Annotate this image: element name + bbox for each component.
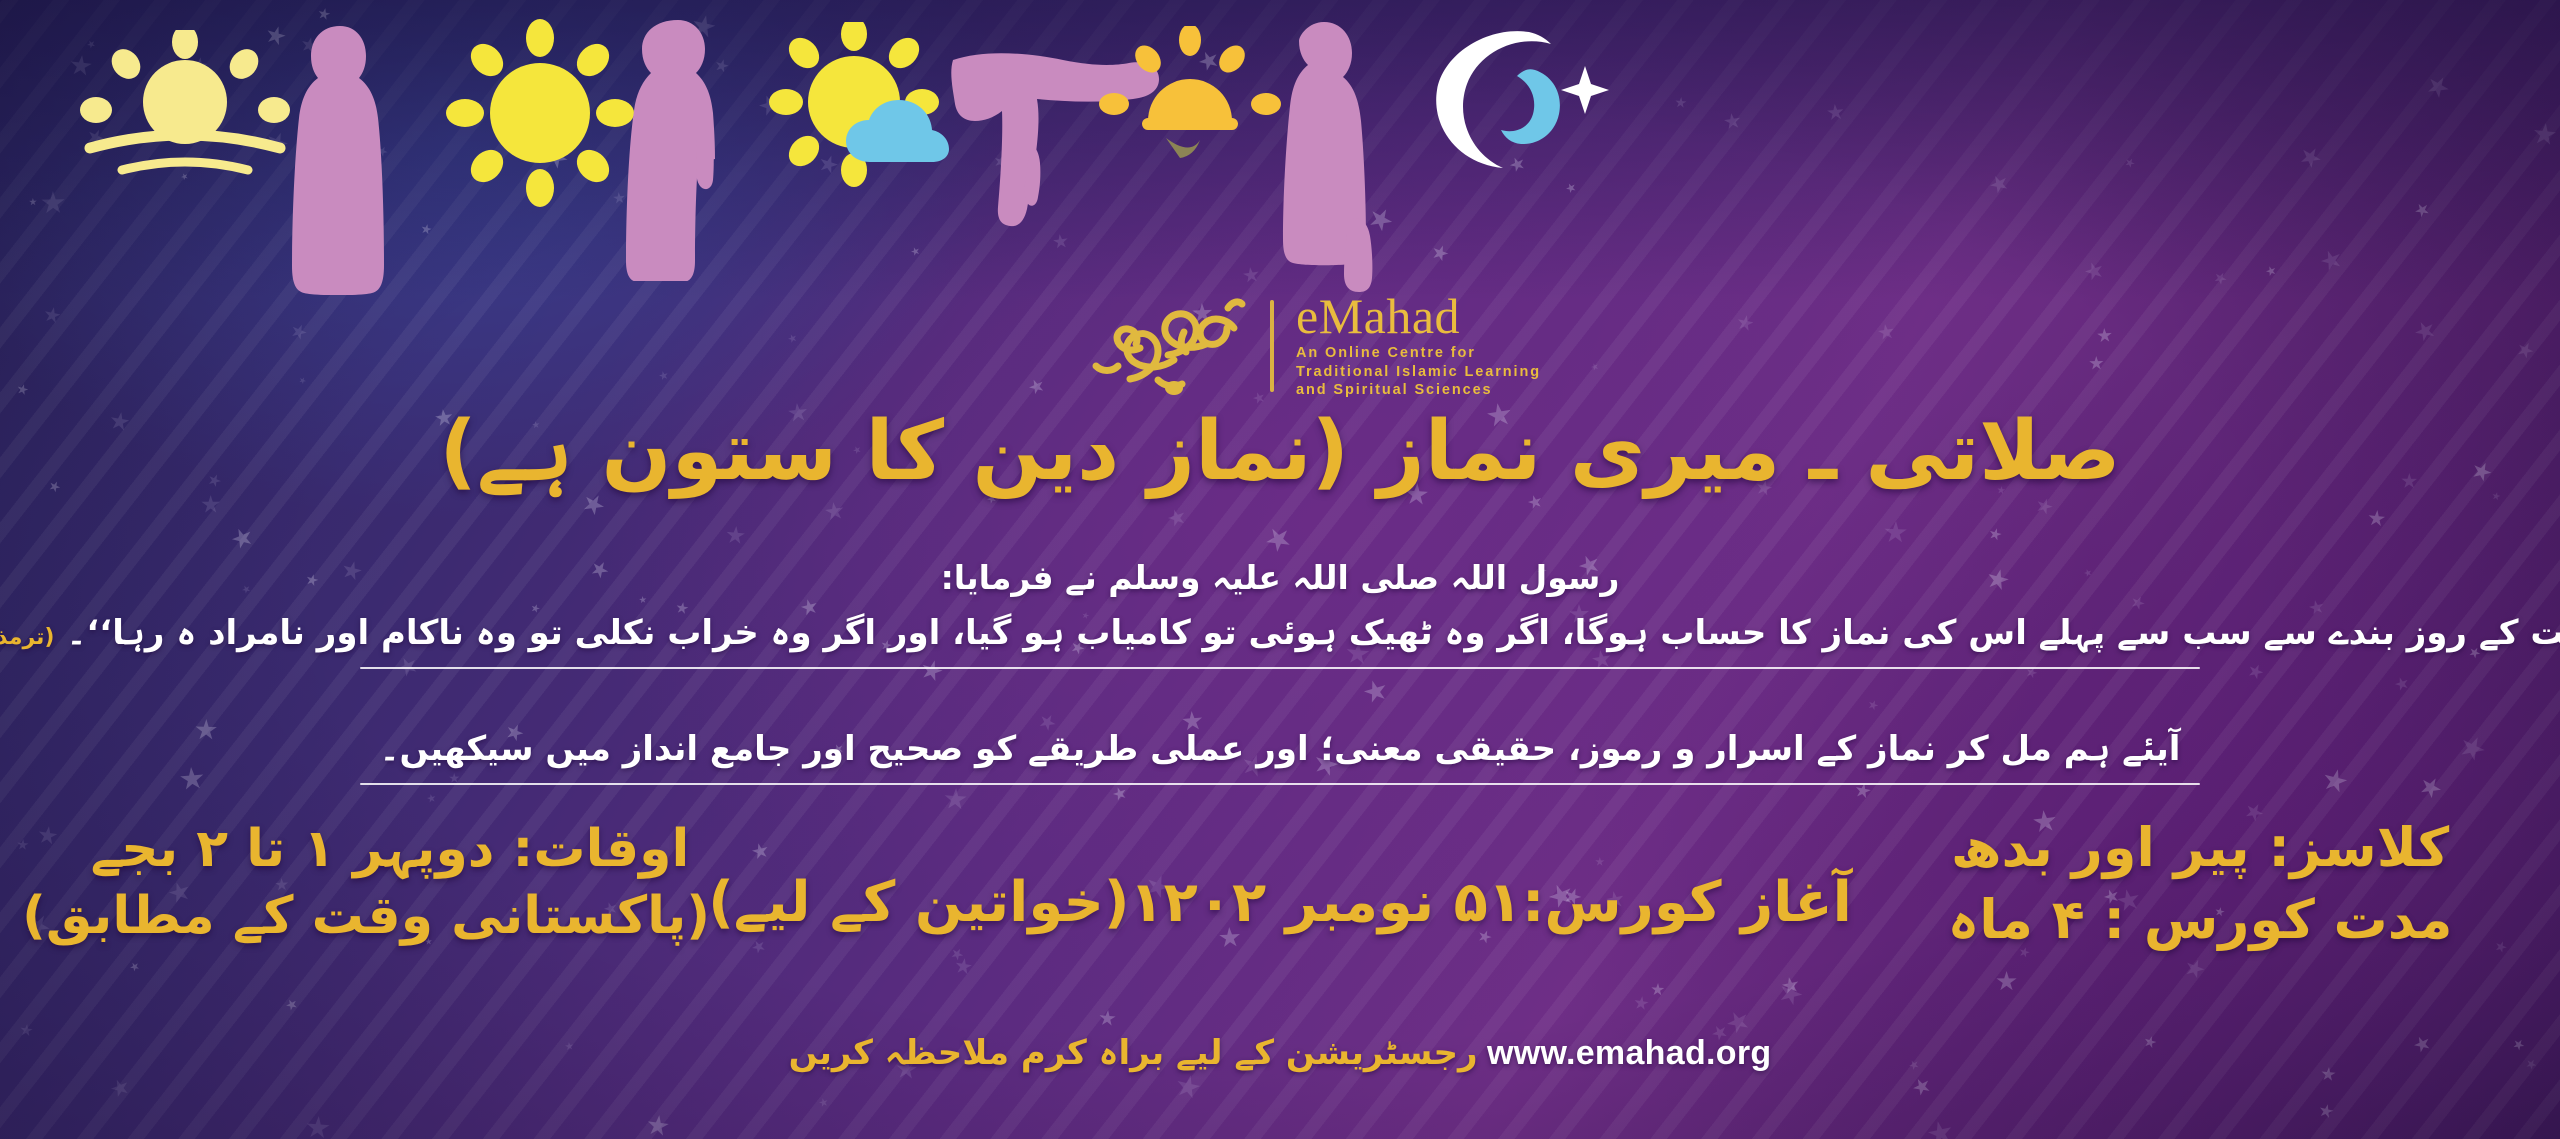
raised-hands-prayer-silhouette (622, 16, 732, 281)
qiyam-standing-silhouette (1270, 18, 1380, 298)
standing-prayer-silhouette (288, 20, 398, 295)
hadith-text: ’’قیامت کے روز بندے سے سب سے پہلے اس کی … (66, 612, 2560, 653)
page-title: صلاتی ـ میری نماز (نماز دین کا ستون ہے) (0, 404, 2560, 499)
intro-text: آیئے ہم مل کر نماز کے اسرار و رموز، حقیق… (360, 728, 2200, 769)
sunset-icon (1090, 26, 1290, 176)
logo-wordmark: eMahad An Online Centre for Traditional … (1296, 292, 1541, 400)
divider-rule-top (360, 667, 2200, 669)
logo-name: eMahad (1296, 292, 1541, 341)
sunrise-icon (70, 30, 300, 180)
sun-icon (430, 18, 650, 208)
crescent-moon-star-icon (1425, 22, 1615, 192)
hadith-block: ’’قیامت کے روز بندے سے سب سے پہلے اس کی … (360, 612, 2200, 669)
logo-tagline-line3: and Spiritual Sciences (1296, 381, 1541, 400)
decor-icon-strip (0, 0, 2560, 320)
logo-divider (1270, 300, 1274, 392)
emahad-logo[interactable]: eMahad An Online Centre for Traditional … (1088, 286, 1558, 406)
logo-tagline-line1: An Online Centre for (1296, 344, 1541, 363)
course-start-date: آغاز کورس:۱۵ نومبر ۲۰۲۱(خواتین کے لیے) (0, 870, 2560, 935)
divider-rule-bottom (360, 783, 2200, 785)
hadith-reference: (ترمذی [۴۱۳]) (0, 625, 54, 650)
intro-block: آیئے ہم مل کر نماز کے اسرار و رموز، حقیق… (360, 728, 2200, 785)
registration-note: رجسٹریشن کے لیے براہ کرم ملاحظہ کریں (789, 1033, 1478, 1073)
footer-registration[interactable]: www.emahad.org رجسٹریشن کے لیے براہ کرم … (0, 1032, 2560, 1073)
banner-root: eMahad An Online Centre for Traditional … (0, 0, 2560, 1139)
website-url[interactable]: www.emahad.org (1487, 1034, 1771, 1072)
logo-tagline-line2: Traditional Islamic Learning (1296, 363, 1541, 382)
hadith-attribution: رسول اللہ صلی اللہ علیہ وسلم نے فرمایا: (0, 558, 2560, 597)
arabic-calligraphy-icon (1088, 288, 1248, 404)
